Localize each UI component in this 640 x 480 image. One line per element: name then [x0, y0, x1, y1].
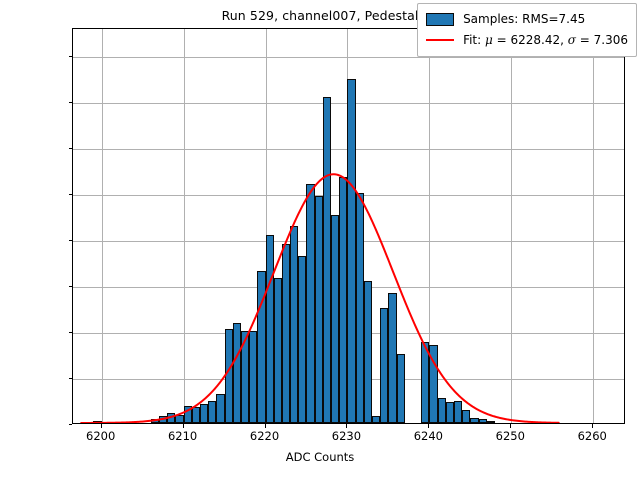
x-tick-label: 6220: [250, 429, 279, 443]
x-tick-mark: [265, 424, 266, 428]
x-tick-mark: [428, 424, 429, 428]
y-tick-mark: [69, 332, 73, 333]
legend-label-samples: Samples: RMS=7.45: [463, 12, 585, 26]
y-tick-mark: [69, 240, 73, 241]
x-tick-mark: [101, 424, 102, 428]
x-tick-mark: [592, 424, 593, 428]
y-axis-label: Entries: [0, 206, 1, 246]
legend-patch-icon: [426, 13, 454, 26]
x-tick-label: 6230: [332, 429, 361, 443]
x-tick-label: 6260: [578, 429, 607, 443]
legend-item-samples: Samples: RMS=7.45: [426, 9, 628, 29]
x-tick-mark: [510, 424, 511, 428]
y-tick-mark: [69, 378, 73, 379]
x-axis-label: ADC Counts: [0, 450, 640, 464]
y-tick-mark: [69, 56, 73, 57]
x-tick-label: 6210: [168, 429, 197, 443]
y-tick-mark: [69, 286, 73, 287]
legend-line-icon: [426, 39, 454, 41]
x-tick-mark: [183, 424, 184, 428]
y-tick-mark: [69, 102, 73, 103]
y-tick-mark: [69, 194, 73, 195]
y-tick-mark: [69, 148, 73, 149]
x-tick-mark: [346, 424, 347, 428]
plot-area: [72, 28, 625, 424]
legend: Samples: RMS=7.45 Fit: μ = 6228.42, σ = …: [417, 3, 637, 57]
x-tick-label: 6250: [496, 429, 525, 443]
x-tick-label: 6240: [414, 429, 443, 443]
y-tick-mark: [69, 424, 73, 425]
legend-label-fit: Fit: μ = 6228.42, σ = 7.306: [463, 33, 628, 47]
matplotlib-figure: Run 529, channel007, Pedestal 6200621062…: [0, 0, 640, 480]
gaussian-fit-curve: [73, 29, 624, 423]
legend-item-fit: Fit: μ = 6228.42, σ = 7.306: [426, 30, 628, 50]
x-tick-label: 6200: [86, 429, 115, 443]
